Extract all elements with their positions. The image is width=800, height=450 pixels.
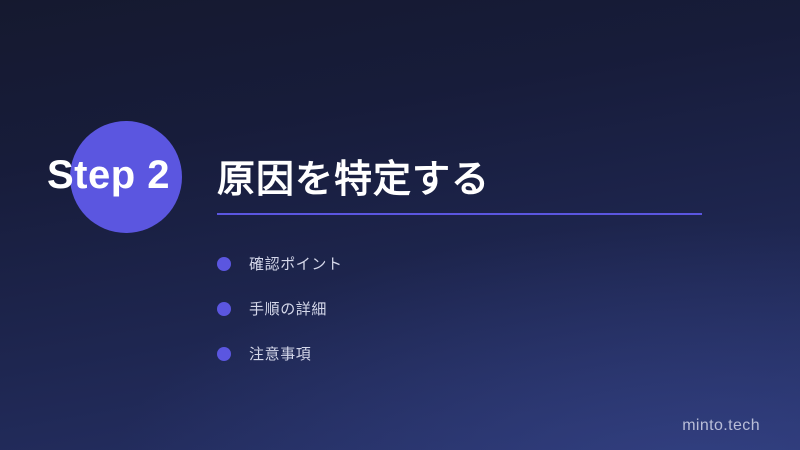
slide-title: 原因を特定する [217, 148, 490, 203]
list-item: 手順の詳細 [217, 286, 343, 331]
bullet-dot-icon [217, 257, 231, 271]
list-item-label: 注意事項 [249, 343, 311, 364]
bullet-dot-icon [217, 347, 231, 361]
list-item-label: 確認ポイント [249, 253, 343, 274]
list-item-label: 手順の詳細 [249, 298, 327, 319]
step-badge-label: Step 2 [47, 153, 170, 198]
presentation-slide: Step 2 原因を特定する 確認ポイント 手順の詳細 注意事項 minto.t… [0, 0, 800, 450]
bullet-dot-icon [217, 302, 231, 316]
footer-brand: minto.tech [682, 417, 760, 435]
bullet-list: 確認ポイント 手順の詳細 注意事項 [217, 241, 343, 376]
list-item: 確認ポイント [217, 241, 343, 286]
title-divider [217, 213, 702, 215]
list-item: 注意事項 [217, 331, 343, 376]
